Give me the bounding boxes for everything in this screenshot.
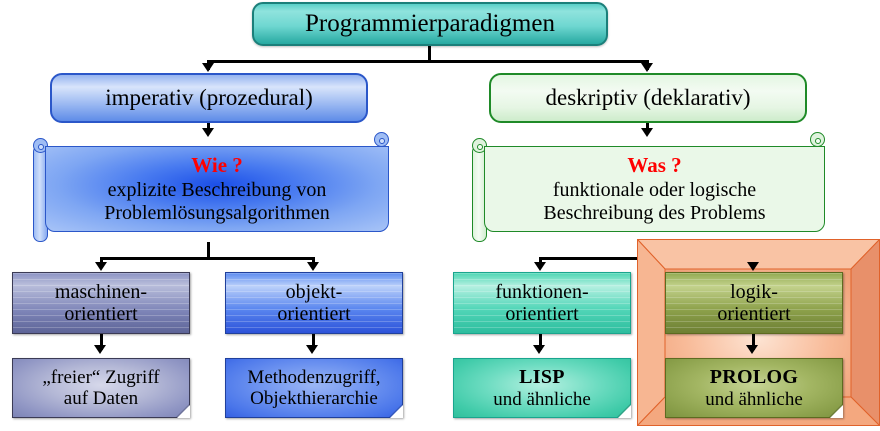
node-imperativ[interactable]: imperativ (prozedural) bbox=[50, 73, 368, 123]
imperativ-description-line1: explizite Beschreibung von bbox=[108, 179, 327, 202]
maschinen-label-line2: orientiert bbox=[64, 303, 137, 325]
methoden-line1: Methodenzugriff, bbox=[247, 367, 380, 388]
imperativ-description-line2: Problemlösungsalgorithmen bbox=[104, 202, 330, 225]
node-lisp[interactable]: LISP und ähnliche bbox=[453, 358, 631, 418]
objekt-label-line1: objekt- bbox=[286, 281, 343, 303]
question-wie: Wie ? bbox=[191, 153, 243, 178]
node-deskriptiv[interactable]: deskriptiv (deklarativ) bbox=[489, 73, 807, 123]
root-node-programmierparadigmen[interactable]: Programmierparadigmen bbox=[252, 2, 608, 46]
arrow-to-deskriptiv bbox=[641, 63, 653, 72]
arrow-to-imperativ bbox=[202, 63, 214, 72]
connector-wie-bar-left bbox=[101, 257, 210, 260]
scroll-curl-right-icon bbox=[374, 132, 389, 147]
arrow-to-funktionen bbox=[534, 262, 546, 271]
methoden-line2: Objekthierarchie bbox=[250, 388, 378, 409]
page-fold-icon bbox=[176, 404, 189, 417]
node-imperativ-label: imperativ (prozedural) bbox=[105, 85, 313, 111]
arrow-to-lisp bbox=[533, 345, 545, 354]
deskriptiv-description-line1: funktionale oder logische bbox=[553, 179, 756, 202]
diagram-canvas: Programmierparadigmen imperativ (prozedu… bbox=[0, 0, 880, 426]
node-funktionen-orientiert[interactable]: funktionen- orientiert bbox=[453, 272, 631, 334]
arrow-to-prolog bbox=[746, 345, 758, 354]
page-fold-icon bbox=[389, 404, 402, 417]
arrow-to-was bbox=[641, 128, 653, 137]
scroll-deskriptiv-description: Was ? funktionale oder logische Beschrei… bbox=[472, 138, 825, 242]
funktionen-label-line1: funktionen- bbox=[495, 281, 588, 303]
node-logik-orientiert[interactable]: logik- orientiert bbox=[665, 272, 843, 334]
node-prolog[interactable]: PROLOG und ähnliche bbox=[665, 358, 843, 418]
logik-label-line2: orientiert bbox=[717, 303, 790, 325]
question-was: Was ? bbox=[627, 153, 681, 178]
node-maschinen-orientiert[interactable]: maschinen- orientiert bbox=[12, 272, 190, 334]
prolog-line1: PROLOG bbox=[710, 366, 798, 388]
arrow-to-maschinen bbox=[95, 262, 107, 271]
node-objekt-orientiert[interactable]: objekt- orientiert bbox=[225, 272, 403, 334]
prolog-line2: und ähnliche bbox=[705, 389, 803, 410]
maschinen-label-line1: maschinen- bbox=[55, 281, 147, 303]
arrow-to-freier bbox=[94, 345, 106, 354]
node-methodenzugriff[interactable]: Methodenzugriff, Objekthierarchie bbox=[225, 358, 403, 418]
connector-was-bar-left bbox=[540, 257, 649, 260]
connector-root-bar-right bbox=[428, 60, 648, 63]
page-fold-icon bbox=[829, 404, 842, 417]
funktionen-label-line2: orientiert bbox=[505, 303, 578, 325]
node-deskriptiv-label: deskriptiv (deklarativ) bbox=[545, 85, 750, 111]
logik-label-line1: logik- bbox=[730, 281, 778, 303]
root-node-label: Programmierparadigmen bbox=[305, 10, 555, 38]
lisp-line2: und ähnliche bbox=[493, 389, 591, 410]
scroll-deskriptiv-body: Was ? funktionale oder logische Beschrei… bbox=[484, 146, 825, 232]
freier-line2: auf Daten bbox=[64, 388, 138, 409]
arrow-to-wie bbox=[202, 128, 214, 137]
arrow-to-logik bbox=[747, 262, 759, 271]
scroll-imperativ-body: Wie ? explizite Beschreibung von Problem… bbox=[45, 146, 389, 232]
node-freier-zugriff[interactable]: „freier“ Zugriff auf Daten bbox=[12, 358, 190, 418]
arrow-to-objekt bbox=[307, 262, 319, 271]
arrow-to-methoden bbox=[306, 345, 318, 354]
connector-wie-bar-right bbox=[207, 257, 314, 260]
scroll-curl-right-icon bbox=[810, 132, 825, 147]
freier-line1: „freier“ Zugriff bbox=[42, 367, 159, 388]
connector-root-bar-left bbox=[207, 60, 430, 63]
lisp-line1: LISP bbox=[519, 366, 565, 388]
scroll-imperativ-description: Wie ? explizite Beschreibung von Problem… bbox=[33, 138, 389, 242]
deskriptiv-description-line2: Beschreibung des Problems bbox=[543, 202, 765, 225]
page-fold-icon bbox=[617, 404, 630, 417]
objekt-label-line2: orientiert bbox=[277, 303, 350, 325]
